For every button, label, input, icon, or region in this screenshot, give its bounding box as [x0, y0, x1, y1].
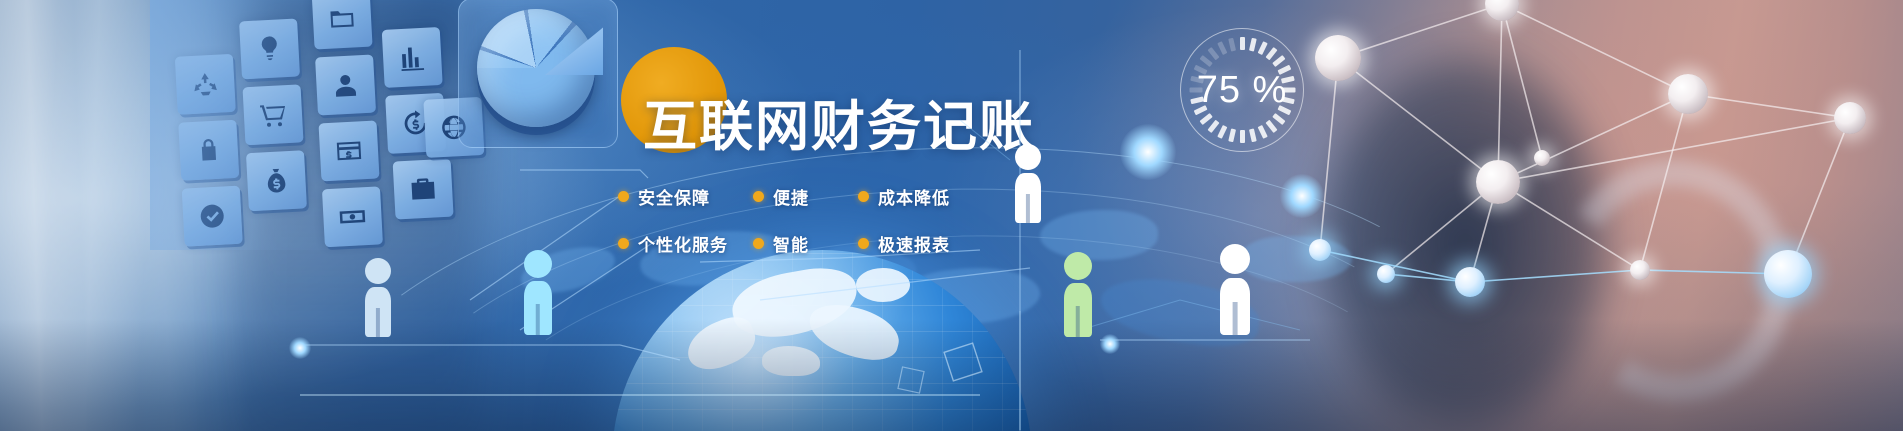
credit-card-icon: [319, 120, 380, 181]
lock-icon: [178, 120, 239, 181]
bullet-dot-icon: [858, 191, 869, 202]
briefcase-icon: [393, 159, 454, 220]
feature-item-fast-report[interactable]: 极速报表: [858, 231, 950, 256]
network-node: [1630, 260, 1650, 280]
bullet-dot-icon: [618, 238, 629, 249]
page-title: 互联网财务记账: [643, 100, 1035, 154]
network-node: [1668, 74, 1708, 114]
progress-gauge: 75 %: [1180, 28, 1304, 152]
cash-icon: [322, 186, 383, 247]
feature-label: 智能: [773, 231, 809, 256]
feature-label: 成本降低: [878, 184, 950, 209]
money-bag-icon: [246, 150, 307, 211]
network-edges: [1290, 0, 1903, 282]
glow-dot: [1280, 174, 1324, 218]
network-node: [1315, 35, 1361, 81]
app-icon-cube: [162, 0, 454, 241]
feature-label: 个性化服务: [638, 231, 728, 256]
feature-label: 极速报表: [878, 231, 950, 256]
bullet-dot-icon: [753, 191, 764, 202]
recycle-icon: [175, 54, 236, 115]
network-node: [1534, 150, 1550, 166]
bullet-dot-icon: [858, 238, 869, 249]
marketing-banner: 互联网财务记账 安全保障 便捷 成本降低: [0, 0, 1903, 431]
person-icon: [315, 55, 376, 116]
glow-dot: [1120, 124, 1176, 180]
network-node-graph: [1290, 0, 1903, 282]
shopping-cart-icon: [243, 84, 304, 145]
baseline-decor: [0, 311, 1903, 431]
network-node: [1377, 265, 1395, 283]
clock-check-icon: [182, 186, 243, 247]
feature-label: 安全保障: [638, 184, 710, 209]
folder-icon: [312, 0, 373, 50]
feature-list: 安全保障 便捷 成本降低 个性化服务 智能 极速报表: [618, 184, 950, 256]
pie-chart-panel: [458, 0, 618, 148]
gauge-value-label: 75 %: [1180, 28, 1304, 152]
feature-label: 便捷: [773, 184, 809, 209]
person-pictogram: [1015, 144, 1041, 224]
network-node: [1764, 250, 1812, 298]
feature-item-security[interactable]: 安全保障: [618, 184, 753, 209]
bullet-dot-icon: [753, 238, 764, 249]
feature-item-intelligent[interactable]: 智能: [753, 231, 858, 256]
feature-item-personalized[interactable]: 个性化服务: [618, 231, 753, 256]
network-node: [1834, 102, 1866, 134]
bar-chart-icon: [382, 27, 443, 88]
feature-item-cost-down[interactable]: 成本降低: [858, 184, 950, 209]
network-node: [1309, 239, 1331, 261]
feature-item-convenient[interactable]: 便捷: [753, 184, 858, 209]
bullet-dot-icon: [618, 191, 629, 202]
network-node: [1476, 160, 1520, 204]
lightbulb-icon: [239, 18, 300, 79]
network-node: [1455, 267, 1485, 297]
